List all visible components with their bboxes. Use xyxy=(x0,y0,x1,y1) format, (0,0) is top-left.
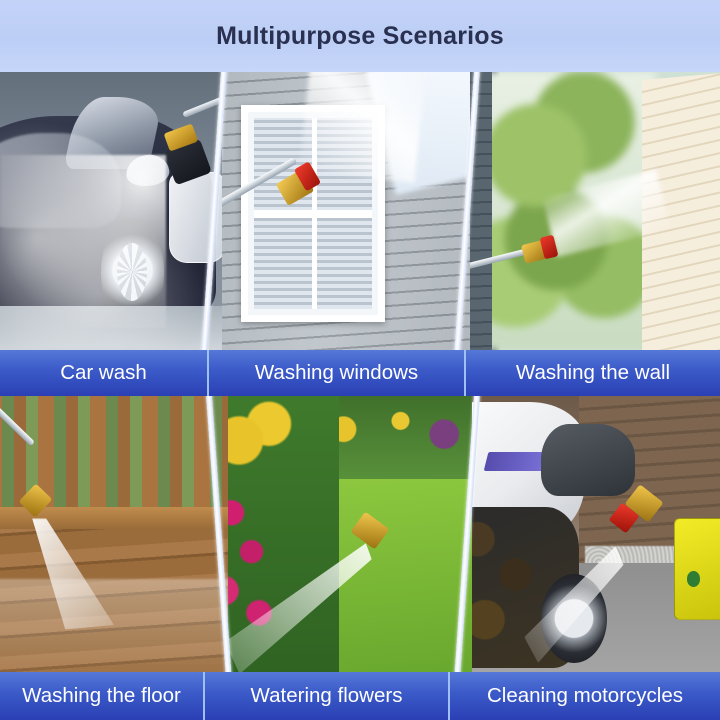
photo-washing-wall xyxy=(470,72,720,350)
caption-label: Washing the floor xyxy=(22,684,181,708)
caption-washing-wall[interactable]: Washing the wall xyxy=(466,350,720,396)
caption-washing-floor[interactable]: Washing the floor xyxy=(0,672,205,720)
scenario-cell-washing-windows[interactable] xyxy=(222,72,470,396)
scenario-row-top: Car wash Washing windows Washing the wal… xyxy=(0,72,720,396)
caption-label: Car wash xyxy=(60,361,147,385)
photo-washing-floor xyxy=(0,396,228,674)
caption-label: Watering flowers xyxy=(251,684,403,708)
caption-label: Washing the wall xyxy=(516,361,670,385)
photo-car-wash xyxy=(0,72,222,350)
scenario-cell-washing-wall[interactable] xyxy=(470,72,720,396)
water-jet-icon xyxy=(299,72,427,183)
scenario-cell-car-wash[interactable] xyxy=(0,72,222,396)
caption-label: Cleaning motorcycles xyxy=(487,684,683,708)
caption-watering-flowers[interactable]: Watering flowers xyxy=(205,672,450,720)
photo-watering-flowers xyxy=(228,396,472,674)
header-banner: Multipurpose Scenarios xyxy=(0,0,720,72)
window-mullion-horizontal xyxy=(254,210,372,218)
scenario-grid: Car wash Washing windows Washing the wal… xyxy=(0,72,720,720)
caption-label: Washing windows xyxy=(255,361,418,385)
water-mist-overlay xyxy=(0,72,222,350)
product-feature-image: Multipurpose Scenarios xyxy=(0,0,720,720)
motorcycle-seat-shape xyxy=(541,424,635,496)
caption-bar-bottom-row: Washing the floor Watering flowers Clean… xyxy=(0,672,720,720)
caption-car-wash[interactable]: Car wash xyxy=(0,350,209,396)
photo-washing-windows xyxy=(222,72,470,350)
page-title: Multipurpose Scenarios xyxy=(216,22,504,51)
caption-bar-top-row: Car wash Washing windows Washing the wal… xyxy=(0,350,720,396)
pressure-washer-unit-icon xyxy=(674,518,720,620)
caption-cleaning-motorcycles[interactable]: Cleaning motorcycles xyxy=(450,672,720,720)
scenario-row-bottom: Washing the floor Watering flowers Clean… xyxy=(0,396,720,720)
wet-surface-sheen xyxy=(0,579,228,674)
caption-washing-windows[interactable]: Washing windows xyxy=(209,350,466,396)
photo-cleaning-motorcycles xyxy=(472,396,720,674)
